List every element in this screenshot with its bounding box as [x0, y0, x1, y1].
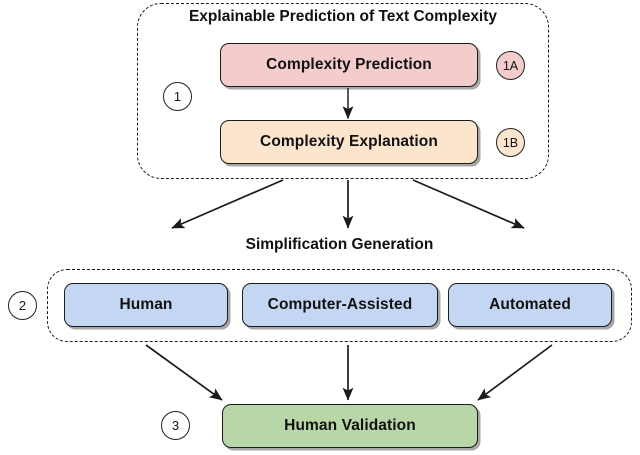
substage-1a-badge: 1A: [496, 51, 525, 80]
arrow-human-to-validation: [146, 345, 222, 400]
arrow-stage1-to-automated: [413, 180, 524, 228]
flowchart-diagram: Explainable Prediction of Text Complexit…: [0, 0, 640, 455]
stage-2-badge-label: 2: [19, 298, 26, 313]
node-human-validation[interactable]: Human Validation: [222, 404, 478, 448]
node-complexity-explanation[interactable]: Complexity Explanation: [220, 120, 478, 164]
stage-2-title: Simplification Generation: [47, 236, 632, 254]
node-human-label: Human: [119, 296, 172, 314]
arrow-stage1-to-human: [172, 180, 283, 228]
substage-1b-badge-label: 1B: [503, 136, 518, 150]
substage-1a-badge-label: 1A: [503, 59, 518, 73]
stage-3-badge-label: 3: [172, 418, 179, 433]
node-complexity-prediction[interactable]: Complexity Prediction: [220, 43, 478, 87]
node-human-validation-label: Human Validation: [284, 417, 416, 435]
node-computer-assisted[interactable]: Computer-Assisted: [242, 283, 438, 327]
node-computer-assisted-label: Computer-Assisted: [268, 296, 413, 314]
arrow-automated-to-validation: [478, 345, 552, 400]
substage-1b-badge: 1B: [496, 128, 525, 157]
stage-3-badge: 3: [161, 411, 190, 440]
node-complexity-explanation-label: Complexity Explanation: [260, 133, 438, 151]
node-automated-label: Automated: [489, 296, 571, 314]
stage-1-badge: 1: [163, 82, 192, 111]
node-complexity-prediction-label: Complexity Prediction: [266, 56, 432, 74]
stage-1-badge-label: 1: [174, 89, 181, 104]
node-human[interactable]: Human: [64, 283, 228, 327]
node-automated[interactable]: Automated: [448, 283, 612, 327]
stage-2-badge: 2: [8, 291, 37, 320]
stage-1-title: Explainable Prediction of Text Complexit…: [137, 8, 549, 26]
